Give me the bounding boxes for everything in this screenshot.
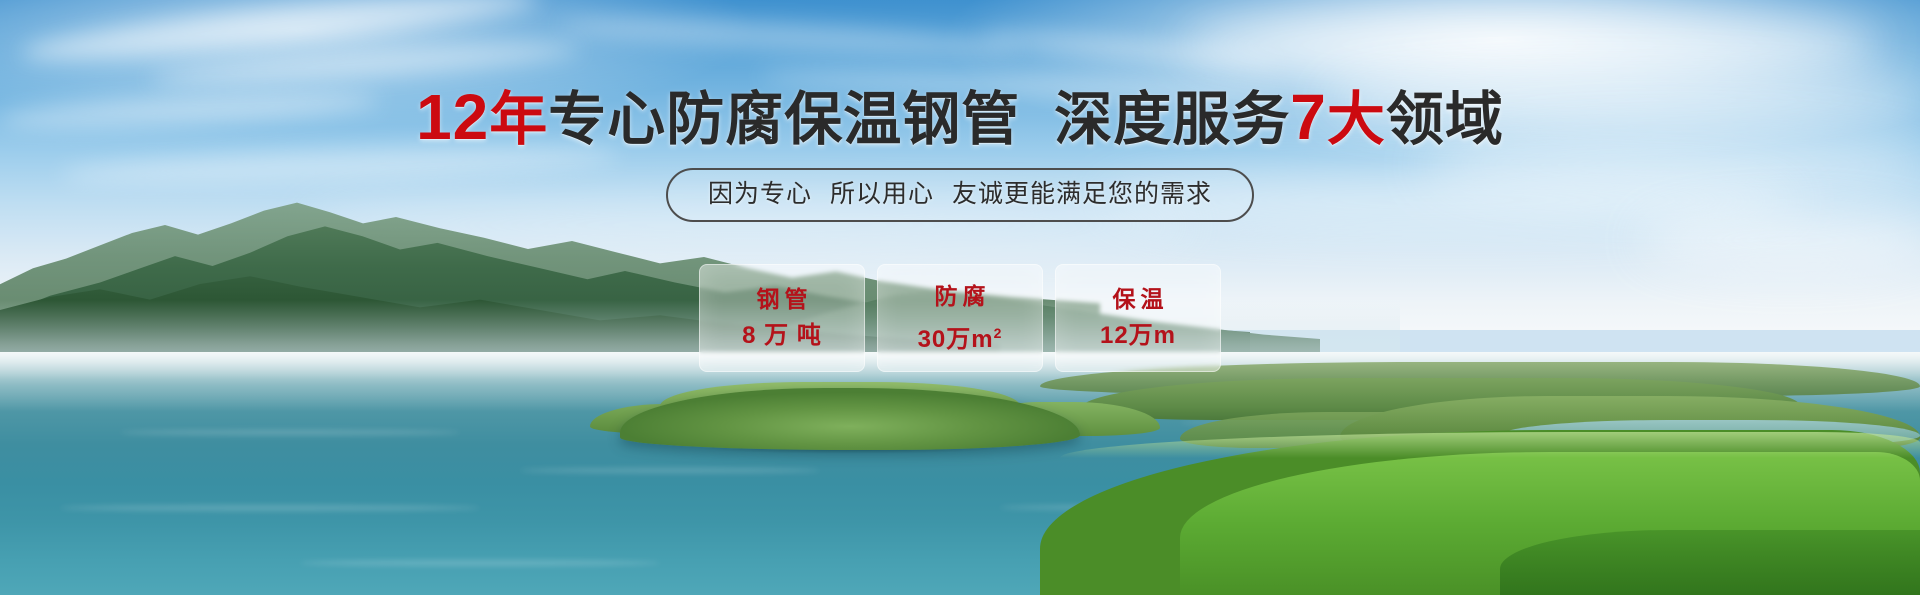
grass-shadow	[1500, 530, 1920, 595]
headline-service-text: 深度服务	[1054, 87, 1290, 152]
stat-card-value-main: 12万m	[1100, 322, 1176, 349]
water-ripple	[300, 560, 660, 566]
stat-card-anticorrosion: 防腐 30万m2	[877, 264, 1043, 372]
stat-card-value-superscript: 2	[994, 325, 1003, 341]
stat-card-steel-pipe: 钢管 8 万 吨	[699, 264, 865, 372]
banner-headline: 12年专心防腐保温钢管深度服务7大领域	[0, 86, 1920, 151]
headline-years-unit: 年	[489, 87, 548, 152]
stat-card-value: 8 万 吨	[742, 323, 822, 349]
headline-main-text: 专心防腐保温钢管	[548, 87, 1020, 152]
headline-years-number: 12	[416, 81, 489, 153]
cloud-wisp	[560, 12, 1021, 62]
subtitle-part-2: 所以用心	[830, 180, 934, 208]
water-ripple	[60, 505, 480, 511]
stat-card-group: 钢管 8 万 吨 防腐 30万m2 保温 12万m	[0, 264, 1920, 372]
headline-fields-text: 领域	[1386, 87, 1504, 152]
banner-subtitle-wrap: 因为专心所以用心友诚更能满足您的需求	[0, 168, 1920, 222]
promo-banner: 12年专心防腐保温钢管深度服务7大领域 因为专心所以用心友诚更能满足您的需求 钢…	[0, 0, 1920, 595]
stat-card-value: 30万m2	[918, 320, 1003, 353]
stat-card-value-main: 8 万 吨	[742, 322, 822, 349]
cloud-bank	[1180, 10, 1880, 80]
banner-subtitle-pill: 因为专心所以用心友诚更能满足您的需求	[666, 168, 1254, 222]
stat-card-label: 保温	[1108, 287, 1169, 311]
stat-card-value: 12万m	[1100, 323, 1176, 349]
subtitle-part-1: 因为专心	[708, 180, 812, 208]
water-ripple	[120, 430, 460, 435]
stat-card-value-main: 30万m	[918, 326, 994, 353]
stat-card-label: 防腐	[930, 284, 991, 308]
headline-fields-number: 7	[1290, 81, 1327, 153]
headline-fields-unit: 大	[1327, 87, 1386, 152]
stat-card-label: 钢管	[752, 287, 813, 311]
stat-card-insulation: 保温 12万m	[1055, 264, 1221, 372]
water-ripple	[520, 468, 820, 473]
subtitle-part-3: 友诚更能满足您的需求	[952, 180, 1212, 208]
